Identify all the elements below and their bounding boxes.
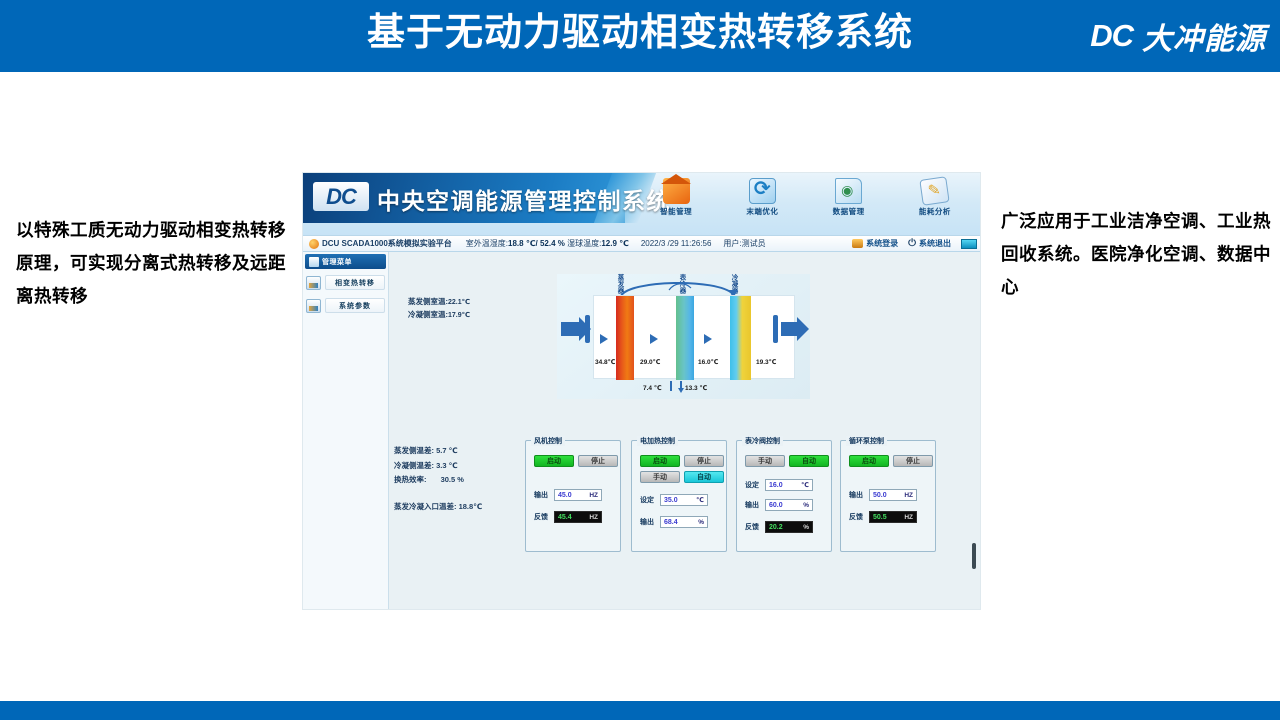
status-chip-icon [961,239,977,249]
slide-bottom-bar [0,701,1280,720]
field-value: 50.5 [873,514,887,521]
fan-stop-button[interactable]: 停止 [578,455,618,467]
app-name: 中央空调能源管理控制系统 [377,182,671,216]
field-label: 设定 [640,495,660,505]
water-temp-1: 7.4 ℃ [643,384,662,392]
panel-fan-control: 风机控制 启动 停止 输出 45.0 HZ 反馈 45.4 HZ [525,440,621,552]
field-value: 35.0 [664,497,678,504]
heater-auto-button[interactable]: 自动 [684,471,724,483]
caption-left: 以特殊工质无动力驱动相变热转移原理，可实现分离式热转移及远距离热转移 [16,214,288,313]
cooling-coil [676,296,694,380]
sidebar-header: 管理菜单 [305,254,386,269]
page-title: 基于无动力驱动相变热转移系统 [0,0,1280,72]
valve-manual-button[interactable]: 手动 [745,455,785,467]
logout-link[interactable]: 系统退出 [919,238,951,249]
monitor-icon [306,299,321,313]
status-bar: DCU SCADA1000系统模拟实验平台 室外温湿度:18.8 ℃/ 52.4… [303,235,981,252]
outdoor-conditions: 室外温湿度:18.8 ℃/ 52.4 % 湿球温度:12.9 ℃ [466,238,629,249]
field-unit: % [698,519,704,526]
heater-setpoint-field[interactable]: 35.0 ℃ [660,494,708,506]
caption-right: 广泛应用于工业洁净空调、工业热回收系统。医院净化空调、数据中心 [1001,205,1279,304]
field-value: 68.4 [664,519,678,526]
heater-setpoint-row: 设定 35.0 ℃ [640,494,708,506]
app-sidebar: 管理菜单 相变热转移 系统参数 [303,252,389,610]
heater-output-field[interactable]: 68.4 % [660,516,708,528]
nav-item-terminal-opt[interactable]: 末端优化 [726,176,798,217]
platform-icon [309,239,319,249]
slide-root: 基于无动力驱动相变热转移系统 DC 大冲能源 以特殊工质无动力驱动相变热转移原理… [0,0,1280,720]
outdoor-temp: 18.8 ℃/ [508,239,538,248]
field-label: 反馈 [534,512,554,522]
duct-stub-left [585,315,590,343]
folder-icon [835,178,862,204]
nav-label: 智能管理 [640,206,712,217]
app-canvas: 蒸发侧室温:22.1℃ 冷凝侧室温:17.9℃ 蒸发器 表冷器 冷凝器 [390,252,981,610]
field-value: 45.0 [558,492,572,499]
fan-feedback-row: 反馈 45.4 HZ [534,511,602,523]
readout-value: 3.3 [436,461,446,470]
fan-output-row: 输出 45.0 HZ [534,489,602,501]
field-value: 45.4 [558,514,572,521]
duct-stub-right [773,315,778,343]
nav-label: 末端优化 [726,206,798,217]
valve-auto-button[interactable]: 自动 [789,455,829,467]
pump-output-row: 输出 50.0 HZ [849,489,917,501]
readout-label: 冷凝侧温差: [394,461,434,470]
readout-cond-dt: 冷凝侧温差: 3.3 ℃ [394,459,482,474]
scrollbar-grip[interactable] [972,543,976,569]
wetbulb-label: 湿球温度: [567,239,601,248]
airflow-arrow [650,334,658,344]
user-label: 用户: [723,238,741,249]
pump-feedback-field: 50.5 HZ [869,511,917,523]
home-icon [663,178,690,204]
sidebar-item-label: 系统参数 [325,298,385,313]
condenser-coil [730,296,751,380]
room-temperature-readouts: 蒸发侧室温:22.1℃ 冷凝侧室温:17.9℃ [408,296,470,322]
panel-title: 表冷阀控制 [742,436,783,446]
air-temp-1: 34.8℃ [595,358,616,366]
field-label: 输出 [534,490,554,500]
heater-manual-button[interactable]: 手动 [640,471,680,483]
field-label: 输出 [849,490,869,500]
cond-room-temp: 冷凝侧室温:17.9℃ [408,309,470,322]
readout-unit: ℃ [449,446,458,455]
heater-start-button[interactable]: 启动 [640,455,680,467]
scada-screenshot: DC 中央空调能源管理控制系统 智能管理 末端优化 数据管理 能耗分析 [302,172,981,610]
fan-start-button[interactable]: 启动 [534,455,574,467]
slide-title-bar: 基于无动力驱动相变热转移系统 DC 大冲能源 [0,0,1280,72]
field-label: 反馈 [849,512,869,522]
fan-output-field[interactable]: 45.0 HZ [554,489,602,501]
field-unit: HZ [904,492,913,499]
field-unit: % [803,524,809,531]
platform-title: DCU SCADA1000系统模拟实验平台 [322,238,452,249]
datetime: 2022/3 /29 11:26:56 [641,239,712,248]
cond-room-temp-label: 冷凝侧室温: [408,310,448,319]
supply-air-arrow-out [781,322,797,336]
readout-value: 5.7 [436,446,446,455]
heater-output-row: 输出 68.4 % [640,516,708,528]
field-unit: HZ [904,514,913,521]
field-unit: HZ [589,514,598,521]
sidebar-item-system-params[interactable]: 系统参数 [306,296,385,315]
field-unit: ℃ [801,481,809,489]
nav-label: 数据管理 [813,206,885,217]
panel-title: 循环泵控制 [846,436,887,446]
readout-label: 蒸发冷凝入口温差: [394,502,457,511]
login-link[interactable]: 系统登录 [866,238,898,249]
supply-air-arrow-in [561,322,579,336]
readout-evap-dt: 蒸发侧温差: 5.7 ℃ [394,444,482,459]
valve-feedback-field: 20.2 % [765,521,813,533]
panel-electric-heater-control: 电加热控制 启动 停止 手动 自动 设定 35.0 ℃ 输出 68.4 % [631,440,727,552]
airflow-arrow [704,334,712,344]
fan-feedback-field: 45.4 HZ [554,511,602,523]
refresh-icon [749,178,776,204]
sidebar-item-phase-change[interactable]: 相变热转移 [306,273,385,292]
field-value: 50.0 [873,492,887,499]
chart-pen-icon [920,176,950,206]
valve-setpoint-field[interactable]: 16.0 ℃ [765,479,813,491]
valve-setpoint-row: 设定 16.0 ℃ [745,479,813,491]
valve-output-field[interactable]: 60.0 % [765,499,813,511]
air-temp-2: 29.0℃ [640,358,661,366]
user-icon [852,239,863,248]
sidebar-header-label: 管理菜单 [322,257,352,267]
field-unit: % [803,502,809,509]
panel-cooling-valve-control: 表冷阀控制 手动 自动 设定 16.0 ℃ 输出 60.0 % [736,440,832,552]
nav-item-intelligent[interactable]: 智能管理 [640,176,712,217]
outdoor-humidity: 52.4 % [540,239,565,248]
valve-feedback-row: 反馈 20.2 % [745,521,813,533]
field-label: 输出 [640,517,660,527]
pump-output-field[interactable]: 50.0 HZ [869,489,917,501]
field-unit: ℃ [696,496,704,504]
water-flow-arrow [678,388,684,393]
app-nav: 智能管理 末端优化 数据管理 能耗分析 [633,176,978,231]
monitor-icon [306,276,321,290]
readout-unit: ℃ [449,461,458,470]
valve-output-row: 输出 60.0 % [745,499,813,511]
pump-stop-button[interactable]: 停止 [893,455,933,467]
water-tick-up [670,381,672,391]
sidebar-item-label: 相变热转移 [325,275,385,290]
outdoor-label: 室外温湿度: [466,239,508,248]
evap-room-temp: 蒸发侧室温:22.1℃ [408,296,470,309]
wetbulb-value: 12.9 ℃ [601,239,628,248]
readout-value: 30.5 [441,475,456,484]
field-value: 60.0 [769,502,783,509]
airflow-arrow [600,334,608,344]
app-banner: DC 中央空调能源管理控制系统 智能管理 末端优化 数据管理 能耗分析 [303,173,981,235]
nav-item-energy-analysis[interactable]: 能耗分析 [899,176,971,217]
pump-start-button[interactable]: 启动 [849,455,889,467]
air-temp-3: 16.0℃ [698,358,719,366]
brand-mark: DC [1090,18,1133,54]
field-label: 反馈 [745,522,765,532]
field-value: 16.0 [769,482,783,489]
panel-title: 电加热控制 [637,436,678,446]
menu-icon [309,257,319,267]
power-icon: ⏻ [908,238,916,249]
nav-item-data-mgmt[interactable]: 数据管理 [813,176,885,217]
field-label: 设定 [745,480,765,490]
readout-label: 换热效率: [394,475,427,484]
panel-circulation-pump-control: 循环泵控制 启动 停止 输出 50.0 HZ 反馈 50.5 HZ [840,440,936,552]
air-temp-4: 19.3℃ [756,358,777,366]
app-logo: DC [313,182,369,211]
heat-exchanger-box: 34.8℃ 29.0℃ 16.0℃ 19.3℃ [593,295,795,379]
pump-feedback-row: 反馈 50.5 HZ [849,511,917,523]
readout-unit: % [457,475,464,484]
evaporator-coil [616,296,634,380]
field-unit: HZ [589,492,598,499]
water-temp-2: 13.3 ℃ [685,384,707,392]
readout-inlet-dt: 蒸发冷凝入口温差: 18.8℃ [394,500,482,515]
heater-stop-button[interactable]: 停止 [684,455,724,467]
field-label: 输出 [745,500,765,510]
brand-logo: DC 大冲能源 [1090,14,1266,58]
nav-label: 能耗分析 [899,206,971,217]
readout-efficiency: 换热效率: 30.5 % [394,473,482,488]
panel-title: 风机控制 [531,436,565,446]
evap-room-temp-value: 22.1℃ [448,299,470,306]
readout-label: 蒸发侧温差: [394,446,434,455]
evap-room-temp-label: 蒸发侧室温: [408,297,448,306]
performance-readouts: 蒸发侧温差: 5.7 ℃ 冷凝侧温差: 3.3 ℃ 换热效率: 30.5 % 蒸… [394,444,482,514]
brand-name: 大冲能源 [1142,14,1266,58]
heat-transfer-diagram: 蒸发器 表冷器 冷凝器 34.8 [557,274,810,399]
cond-room-temp-value: 17.9℃ [448,312,470,319]
readout-value: 18.8℃ [459,502,483,511]
user-value: 测试员 [742,238,766,249]
field-value: 20.2 [769,524,783,531]
